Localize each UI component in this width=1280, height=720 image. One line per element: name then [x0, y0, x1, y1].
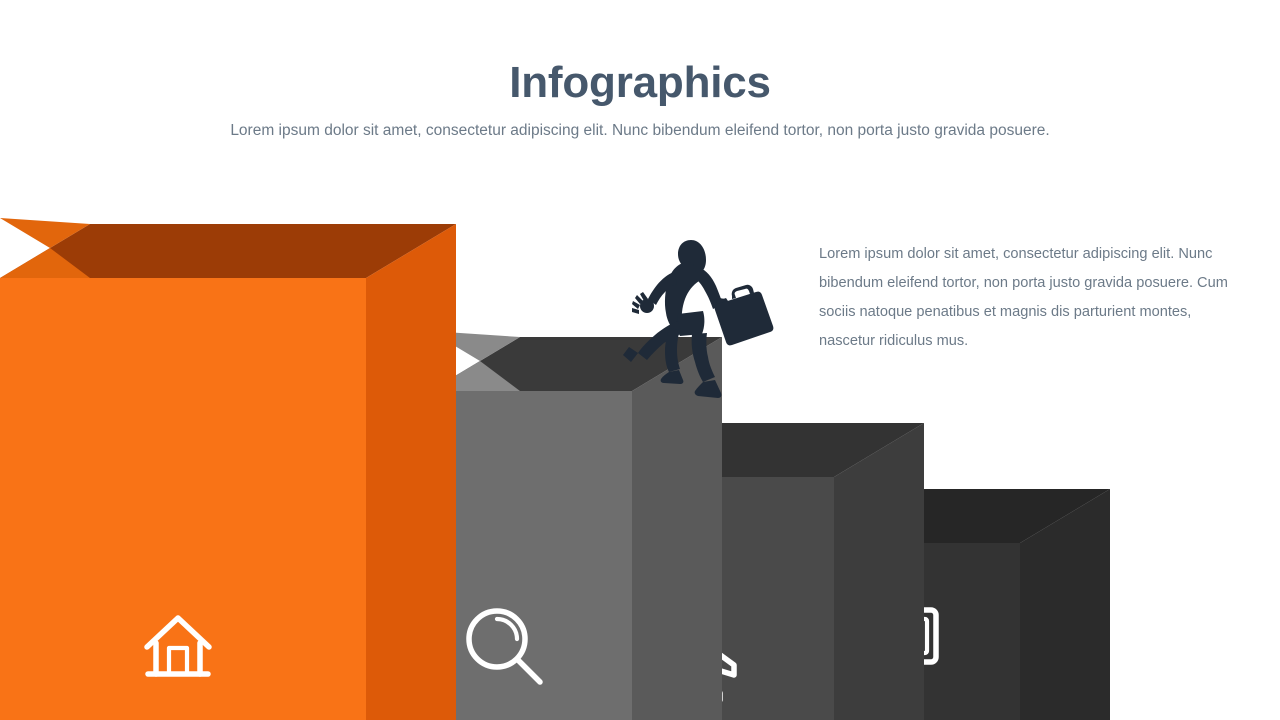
bar-home-front-face: [0, 278, 366, 720]
body-paragraph: Lorem ipsum dolor sit amet, consectetur …: [819, 240, 1239, 356]
bar-home-side-face: [366, 224, 456, 720]
businessman-figure: [612, 228, 784, 400]
businessman-silhouette-icon: [612, 228, 784, 400]
bar-home[interactable]: [0, 218, 456, 720]
infographic-slide: Infographics Lorem ipsum dolor sit amet,…: [0, 0, 1280, 720]
